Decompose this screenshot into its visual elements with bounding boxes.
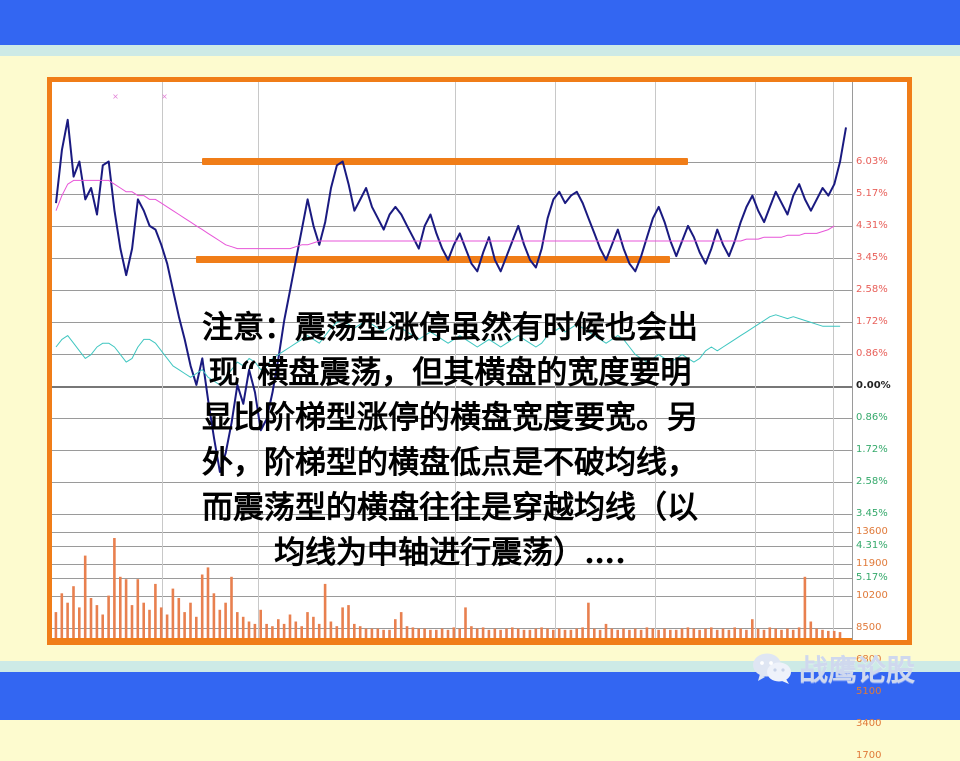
price-axis-tick: 4.31% [856, 540, 888, 551]
volume-bar [751, 619, 754, 638]
header-bar [0, 0, 960, 45]
volume-bar [733, 627, 736, 638]
volume-bar [792, 630, 795, 638]
marker-cross-1: × [112, 93, 119, 100]
volume-bar [154, 584, 157, 638]
volume-axis-tick: 10200 [856, 590, 888, 601]
volume-bar [201, 575, 204, 639]
volume-bar [78, 607, 81, 638]
volume-bar [634, 629, 637, 638]
volume-bar [423, 629, 426, 638]
volume-bar [780, 630, 783, 638]
watermark: 战鹰论股 [752, 652, 915, 688]
volume-bar [810, 622, 813, 639]
volume-bar [529, 630, 532, 638]
volume-bar [540, 627, 543, 638]
volume-bar [464, 607, 467, 638]
volume-bar [628, 630, 631, 638]
volume-bar [377, 629, 380, 638]
price-axis-tick: 2.58% [856, 284, 888, 295]
volume-bar [441, 629, 444, 638]
volume-bar [300, 626, 303, 638]
volume-bar [224, 603, 227, 638]
volume-bar [657, 630, 660, 638]
volume-axis-tick: 8500 [856, 622, 881, 633]
volume-bar [669, 630, 672, 638]
volume-bar [745, 630, 748, 638]
price-axis-tick: 1.72% [856, 444, 888, 455]
volume-bar [593, 629, 596, 638]
volume-bar [283, 624, 286, 638]
volume-bar [821, 630, 824, 638]
slide-stage: ×× 6.03%5.17%4.31%3.45%2.58%1.72%0.86%0.… [0, 0, 960, 720]
volume-bar [412, 627, 415, 638]
annotation-note: 注意：震荡型涨停虽然有时候也会出 现“横盘震荡，但其横盘的宽度要明 显比阶梯型涨… [60, 306, 840, 576]
note-line-4: 外，阶梯型的横盘低点是不破均线， [60, 441, 840, 486]
volume-bar [681, 629, 684, 638]
volume-bar [722, 629, 725, 638]
volume-bar [195, 617, 198, 638]
price-axis-tick: 0.00% [856, 380, 891, 391]
volume-bar [652, 629, 655, 638]
volume-baseline [52, 638, 907, 640]
volume-bar [640, 630, 643, 638]
volume-bar [55, 612, 58, 638]
volume-bar [265, 624, 268, 638]
volume-bar [827, 631, 830, 638]
volume-bar [242, 617, 245, 638]
volume-bar [347, 605, 350, 638]
volume-bar [815, 629, 818, 638]
volume-bar [786, 629, 789, 638]
volume-bar [254, 624, 257, 638]
volume-bar [271, 626, 274, 638]
volume-bar [739, 629, 742, 638]
volume-bar [517, 629, 520, 638]
volume-bar [710, 627, 713, 638]
price-axis-tick: 5.17% [856, 572, 888, 583]
volume-bar [137, 579, 140, 638]
volume-bar [587, 603, 590, 638]
volume-bar [219, 610, 222, 638]
marker-cross-2: × [161, 93, 168, 100]
volume-bar [178, 598, 181, 638]
volume-bar [546, 629, 549, 638]
volume-bar [125, 579, 128, 638]
volume-bar [499, 630, 502, 638]
volume-bar [494, 629, 497, 638]
volume-bar [295, 622, 298, 639]
volume-bar [482, 627, 485, 638]
volume-bar [131, 605, 134, 638]
volume-bar [704, 629, 707, 638]
price-axis-tick: 2.58% [856, 476, 888, 487]
volume-bar [230, 577, 233, 638]
volume-bar [336, 626, 339, 638]
volume-bar [259, 610, 262, 638]
volume-axis-tick: 11900 [856, 558, 888, 569]
note-line-2: 现“横盘震荡，但其横盘的宽度要明 [60, 351, 840, 396]
volume-bar [359, 626, 362, 638]
volume-bar [646, 627, 649, 638]
volume-bar [406, 626, 409, 638]
volume-bar [716, 630, 719, 638]
price-axis-tick: 4.31% [856, 220, 888, 231]
price-axis-tick: 0.86% [856, 348, 888, 359]
volume-bar [142, 603, 145, 638]
volume-bar [605, 624, 608, 638]
volume-bar [306, 612, 309, 638]
volume-bar [476, 629, 479, 638]
volume-axis-tick: 1700 [856, 750, 881, 761]
volume-bar [400, 612, 403, 638]
volume-bar [552, 630, 555, 638]
volume-bar [769, 627, 772, 638]
note-line-6: 均线为中轴进行震荡）…. [60, 531, 840, 576]
volume-bar [330, 622, 333, 639]
volume-bar [289, 615, 292, 639]
volume-bar [611, 629, 614, 638]
price-axis-tick: 3.45% [856, 252, 888, 263]
volume-bar [687, 627, 690, 638]
volume-bar [119, 577, 122, 638]
volume-bar [798, 627, 801, 638]
volume-bar [839, 632, 842, 638]
volume-bar [575, 629, 578, 638]
volume-bar [558, 629, 561, 638]
price-axis-tick: 1.72% [856, 316, 888, 327]
price-axis-tick: 6.03% [856, 156, 888, 167]
volume-bar [763, 630, 766, 638]
volume-bar [417, 629, 420, 638]
volume-bar [505, 629, 508, 638]
volume-bar [622, 629, 625, 638]
volume-bar [90, 598, 93, 638]
volume-bar [435, 630, 438, 638]
volume-bar [599, 630, 602, 638]
volume-bar [213, 593, 216, 638]
volume-bar [353, 624, 356, 638]
note-line-5: 而震荡型的横盘往往是穿越均线（以 [60, 486, 840, 531]
volume-bar [447, 630, 450, 638]
volume-bar [728, 630, 731, 638]
volume-bar [365, 629, 368, 638]
chart-y-axis-labels: 6.03%5.17%4.31%3.45%2.58%1.72%0.86%0.00%… [852, 82, 907, 640]
volume-bar [616, 630, 619, 638]
volume-bar [570, 630, 573, 638]
volume-bar [804, 577, 807, 638]
volume-bar [833, 631, 836, 638]
volume-bar [693, 629, 696, 638]
volume-bar [371, 629, 374, 638]
volume-bar [96, 605, 99, 638]
volume-bar [66, 603, 69, 638]
price-axis-tick: 0.86% [856, 412, 888, 423]
moving-average-line [56, 180, 834, 248]
volume-bar [160, 607, 163, 638]
price-axis-tick: 3.45% [856, 508, 888, 519]
volume-bar [564, 630, 567, 638]
volume-bar [107, 596, 110, 638]
price-axis-tick: 5.17% [856, 188, 888, 199]
note-line-1: 注意：震荡型涨停虽然有时候也会出 [60, 306, 840, 351]
volume-bar [535, 629, 538, 638]
header-accent-strip [0, 45, 960, 56]
volume-bar [394, 619, 397, 638]
volume-bar [523, 630, 526, 638]
volume-bar [757, 629, 760, 638]
volume-bar [382, 630, 385, 638]
volume-bar [183, 612, 186, 638]
volume-bar [341, 607, 344, 638]
volume-bar [101, 615, 104, 639]
volume-bar [318, 624, 321, 638]
volume-bar [324, 584, 327, 638]
watermark-label: 战鹰论股 [799, 655, 915, 685]
volume-bar [453, 627, 456, 638]
volume-bar [166, 615, 169, 639]
note-line-3: 显比阶梯型涨停的横盘宽度要宽。另 [60, 396, 840, 441]
volume-bar [698, 630, 701, 638]
volume-bar [663, 629, 666, 638]
volume-bar [581, 627, 584, 638]
volume-bar [774, 629, 777, 638]
volume-bar [172, 589, 175, 638]
volume-bar [248, 622, 251, 639]
volume-bar [207, 567, 210, 638]
volume-bar [148, 610, 151, 638]
volume-axis-tick: 13600 [856, 526, 888, 537]
volume-bar [61, 593, 64, 638]
volume-bar [312, 617, 315, 638]
volume-bar [675, 630, 678, 638]
volume-bar [511, 627, 514, 638]
volume-bar [189, 603, 192, 638]
volume-bar [429, 630, 432, 638]
volume-bar [388, 630, 391, 638]
volume-bar [488, 630, 491, 638]
volume-bar [470, 626, 473, 638]
volume-bar [458, 629, 461, 638]
volume-bar [277, 619, 280, 638]
volume-bar [236, 612, 239, 638]
wechat-icon [752, 652, 792, 688]
volume-bar [72, 586, 75, 638]
